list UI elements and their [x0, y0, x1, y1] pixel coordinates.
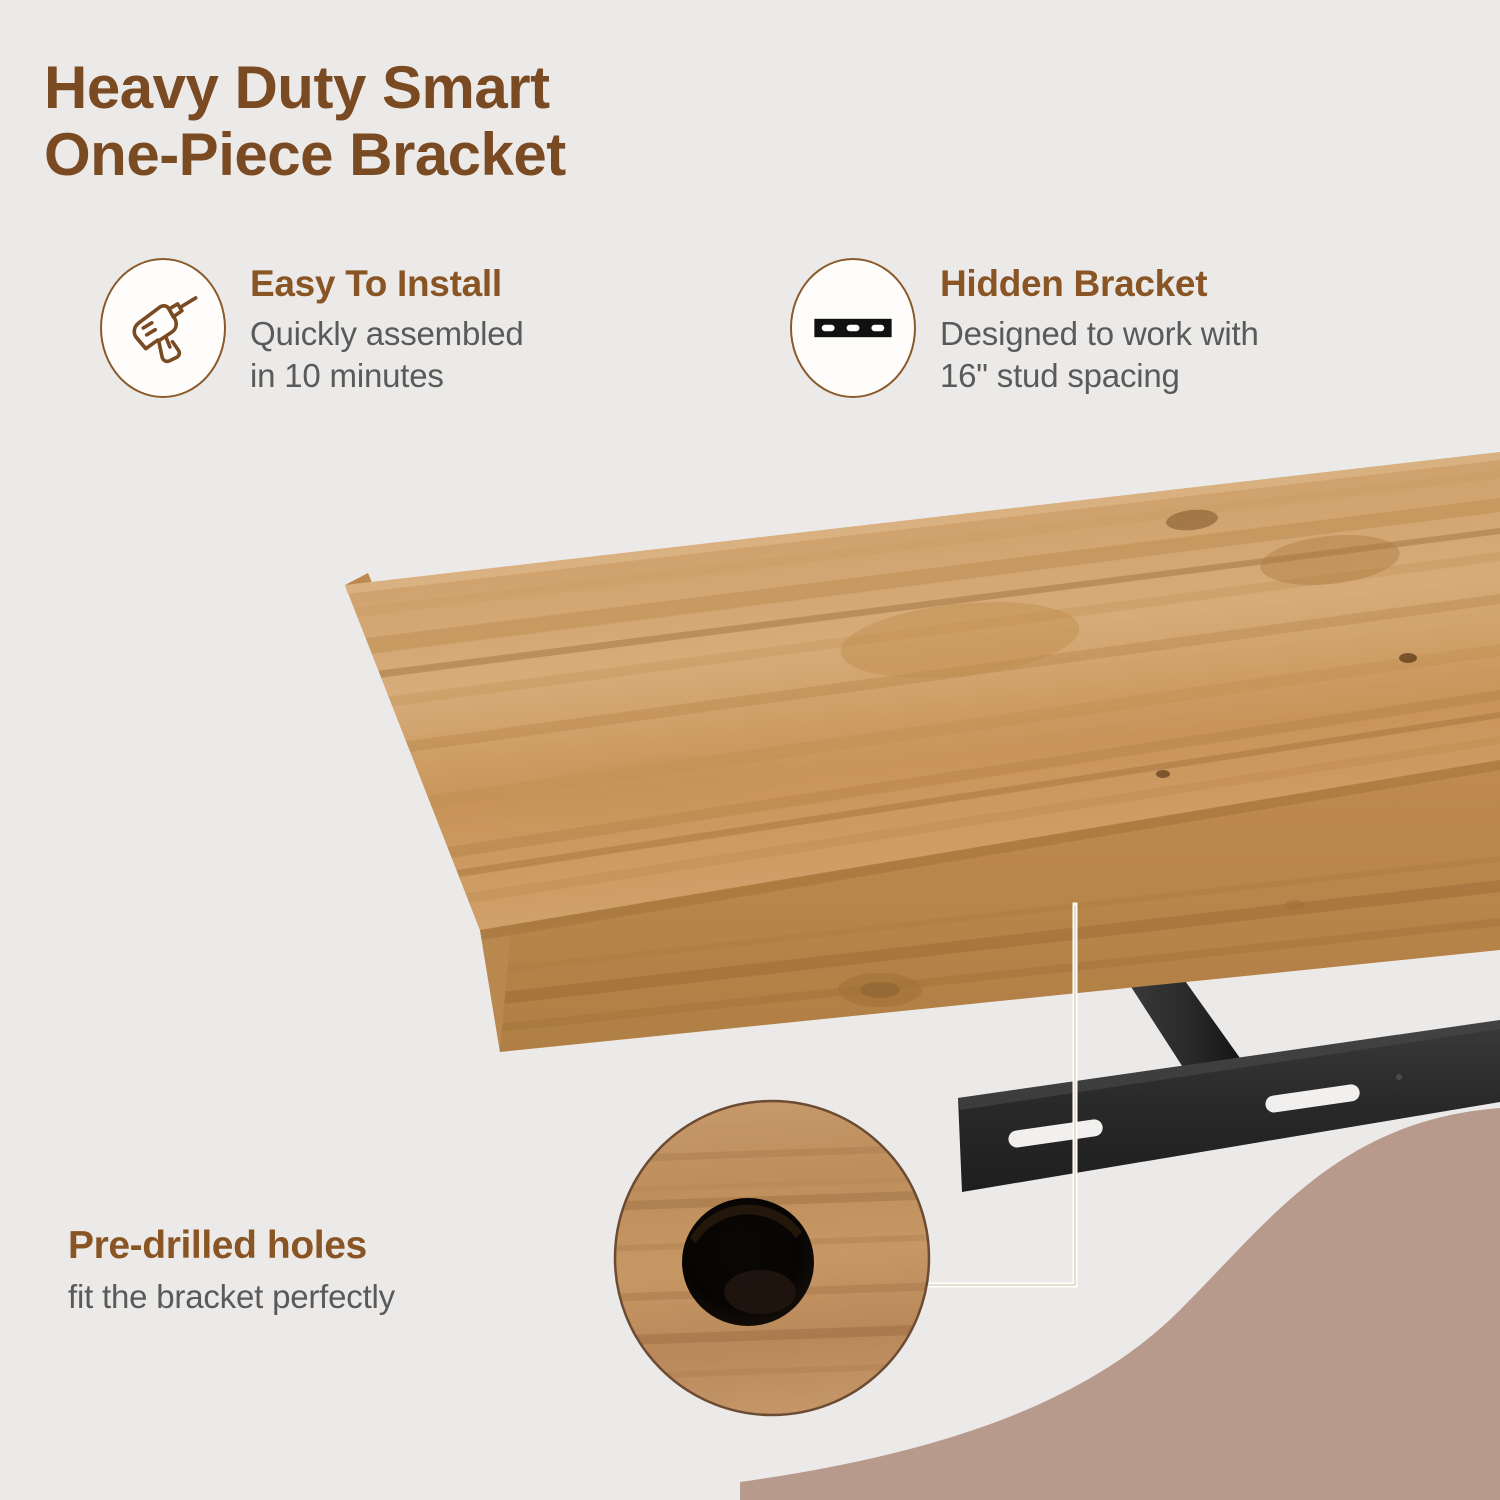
feature-title: Hidden Bracket	[940, 264, 1259, 305]
pre-drilled-hole-magnifier	[610, 1096, 936, 1422]
bracket-plate-highlight	[958, 1020, 1500, 1110]
bracket-rod-collar	[1065, 879, 1117, 897]
feature-body: Quickly assembled in 10 minutes	[250, 313, 524, 397]
magnifier-wood-grain	[610, 1116, 936, 1379]
bracket-slot	[1007, 1118, 1103, 1148]
shelf-top-face	[345, 452, 1500, 930]
caption-title: Pre-drilled holes	[68, 1224, 395, 1268]
bracket-wall-plate	[958, 1020, 1500, 1192]
feature-easy-to-install: Easy To Install Quickly assembled in 10 …	[100, 258, 524, 398]
drill-icon	[120, 285, 206, 371]
bracket-rod	[1066, 884, 1240, 1072]
hidden-wall-bracket	[958, 879, 1500, 1192]
shelf-front-face	[345, 585, 1500, 1052]
bracket-bar-icon	[807, 282, 899, 374]
feature-body: Designed to work with 16" stud spacing	[940, 313, 1259, 397]
shelf-top-highlight	[345, 452, 1500, 594]
feature-hidden-bracket: Hidden Bracket Designed to work with 16"…	[790, 258, 1259, 398]
shelf-front-grain	[430, 856, 1500, 1038]
pre-drilled-holes-caption: Pre-drilled holes fit the bracket perfec…	[68, 1224, 395, 1316]
bracket-pilot-mark	[1396, 1074, 1402, 1080]
product-feature-graphic: Heavy Duty Smart One-Piece Bracket Easy …	[0, 0, 1500, 1500]
bracket-set-screw	[1106, 909, 1120, 923]
bracket-bar-icon-badge	[790, 258, 916, 398]
pre-drilled-hole-callout-line	[905, 905, 1075, 1285]
feature-text-block: Easy To Install Quickly assembled in 10 …	[250, 258, 524, 397]
page-title: Heavy Duty Smart One-Piece Bracket	[44, 54, 566, 188]
hole-rim	[690, 1205, 802, 1243]
bracket-slot	[1264, 1083, 1360, 1113]
decorative-wave-shape	[740, 1030, 1500, 1500]
pre-drilled-hole	[682, 1198, 814, 1326]
drill-icon-badge	[100, 258, 226, 398]
shelf-end-face	[345, 573, 512, 1052]
shelf-top-grain	[350, 470, 1500, 908]
magnifier-ring	[615, 1101, 929, 1415]
feature-text-block: Hidden Bracket Designed to work with 16"…	[940, 258, 1259, 397]
wood-floating-shelf	[345, 452, 1500, 1052]
caption-body: fit the bracket perfectly	[68, 1278, 395, 1316]
shelf-arris-shadow	[480, 760, 1500, 940]
feature-title: Easy To Install	[250, 264, 524, 305]
